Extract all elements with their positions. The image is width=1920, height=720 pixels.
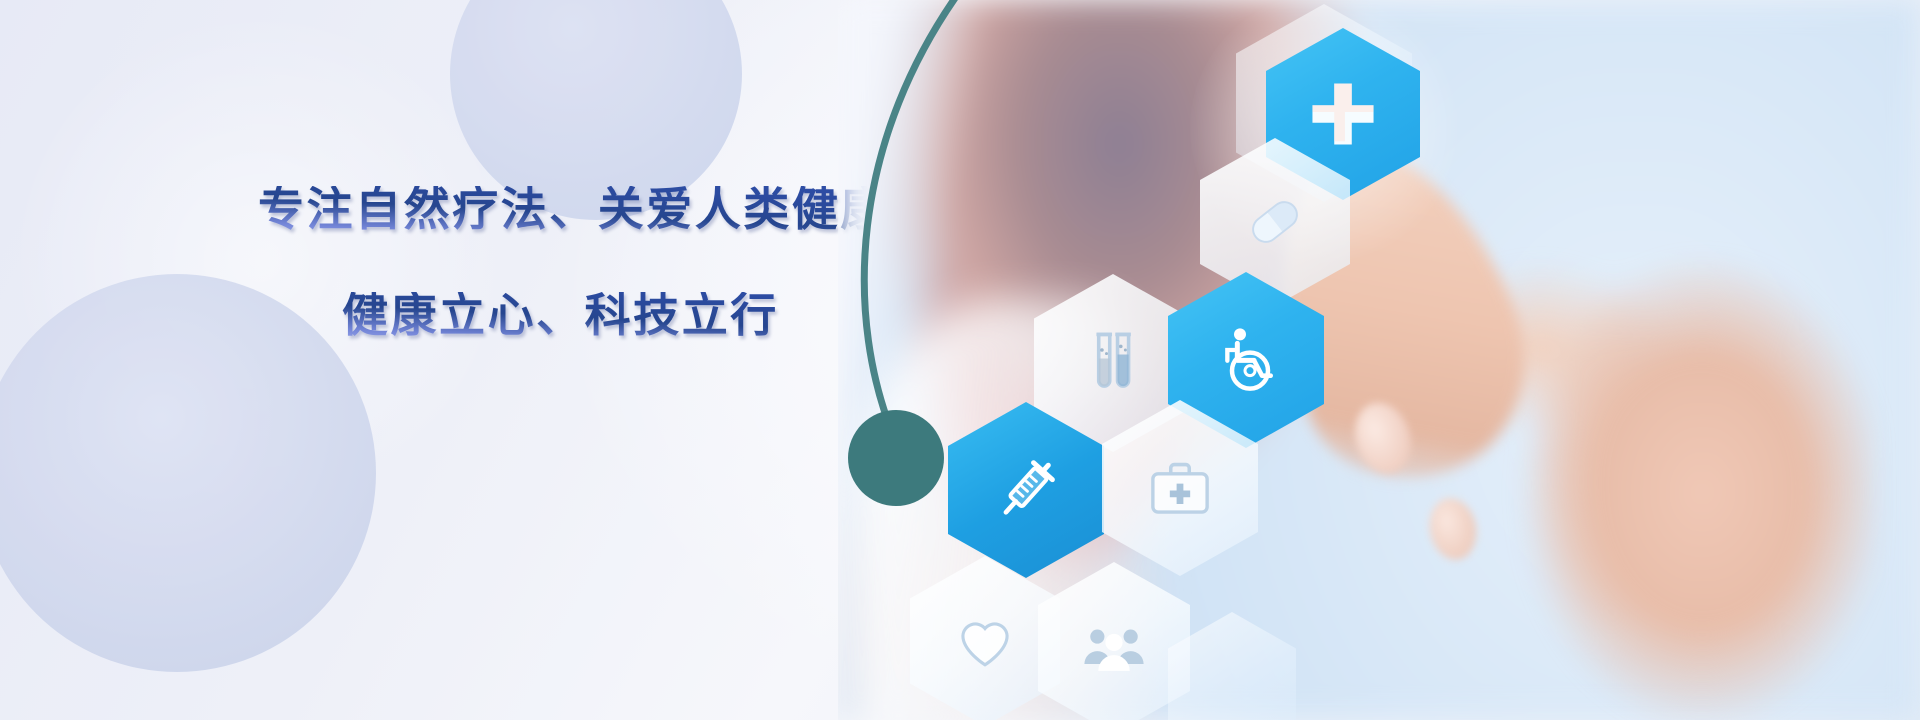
family-group-icon — [1077, 611, 1151, 685]
teal-dot — [848, 410, 944, 506]
medical-cross-icon — [1304, 75, 1382, 153]
hero-photo — [838, 0, 1920, 720]
first-aid-kit-icon — [1143, 451, 1217, 525]
wheelchair-icon — [1206, 320, 1286, 400]
syringe-icon — [986, 450, 1066, 530]
pill-capsule-icon — [1238, 185, 1312, 259]
headline-line-1: 专注自然疗法、关爱人类健康 — [258, 186, 898, 232]
teal-arc-path — [864, 0, 968, 442]
hero-banner: 专注自然疗法、关爱人类健康 健康立心、科技立行 — [0, 0, 1920, 720]
heart-icon — [951, 607, 1019, 675]
headline-block: 专注自然疗法、关爱人类健康 健康立心、科技立行 — [258, 186, 898, 338]
test-tubes-icon — [1074, 324, 1152, 402]
headline-line-2: 健康立心、科技立行 — [342, 292, 898, 338]
